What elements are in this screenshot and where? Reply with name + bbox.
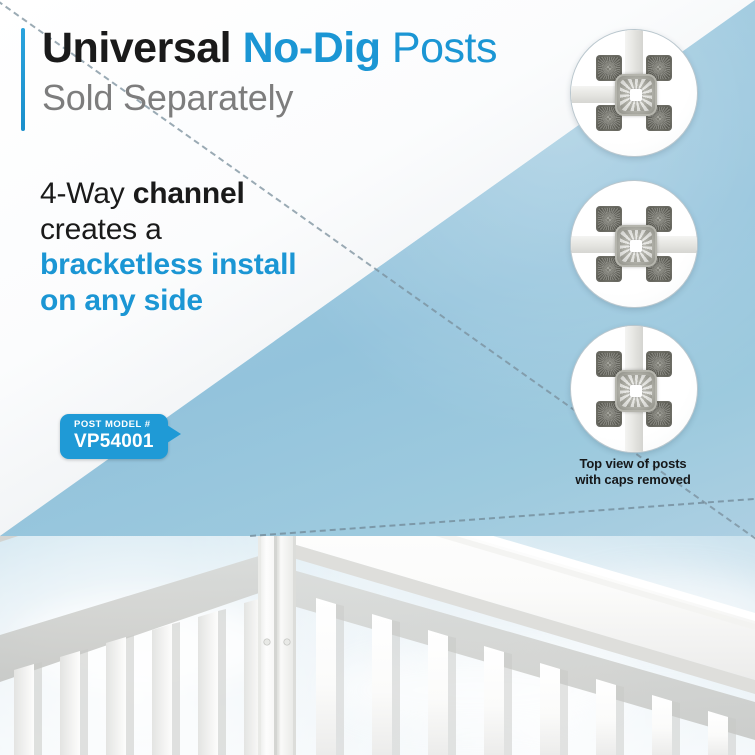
post-cross-section: [596, 206, 672, 282]
caption-line-2: with caps removed: [528, 472, 738, 488]
feature-line-4: on any side: [40, 283, 296, 319]
page-subtitle: Sold Separately: [42, 78, 293, 118]
title-part-no-dig: No-Dig: [243, 24, 381, 72]
post-center-hub: [615, 370, 657, 412]
feature-line1-bold: channel: [133, 177, 245, 210]
callout-circle-corner-configuration: [570, 29, 698, 157]
feature-line-1: 4-Way channel: [40, 176, 296, 212]
title-part-universal: Universal: [42, 24, 243, 72]
callout-circle-inline-vertical-configuration: [570, 325, 698, 453]
title-part-posts: Posts: [380, 24, 497, 72]
feature-copy: 4-Way channel creates a bracketless inst…: [40, 176, 296, 319]
callout-caption: Top view of posts with caps removed: [528, 456, 738, 488]
post-hollow-core: [630, 385, 642, 397]
headline-accent-bar: [21, 28, 25, 131]
post-center-hub: [615, 74, 657, 116]
badge-kicker-label: POST MODEL #: [74, 420, 154, 430]
post-center-hub: [615, 225, 657, 267]
feature-line-3: bracketless install: [40, 247, 296, 283]
page-title: Universal No-Dig Posts: [42, 26, 497, 72]
caption-line-1: Top view of posts: [528, 456, 738, 472]
post-hollow-core: [630, 89, 642, 101]
product-marketing-image: Universal No-Dig Posts Sold Separately 4…: [0, 0, 755, 755]
feature-line1-plain: 4-Way: [40, 177, 133, 210]
post-cross-section: [596, 55, 672, 131]
post-model-badge: POST MODEL # VP54001: [60, 414, 168, 459]
callout-circle-inline-horizontal-configuration: [570, 180, 698, 308]
feature-line-2: creates a: [40, 212, 296, 248]
badge-bubble: POST MODEL # VP54001: [60, 414, 168, 459]
post-hollow-core: [630, 240, 642, 252]
badge-model-number: VP54001: [74, 432, 154, 451]
post-cross-section: [596, 351, 672, 427]
